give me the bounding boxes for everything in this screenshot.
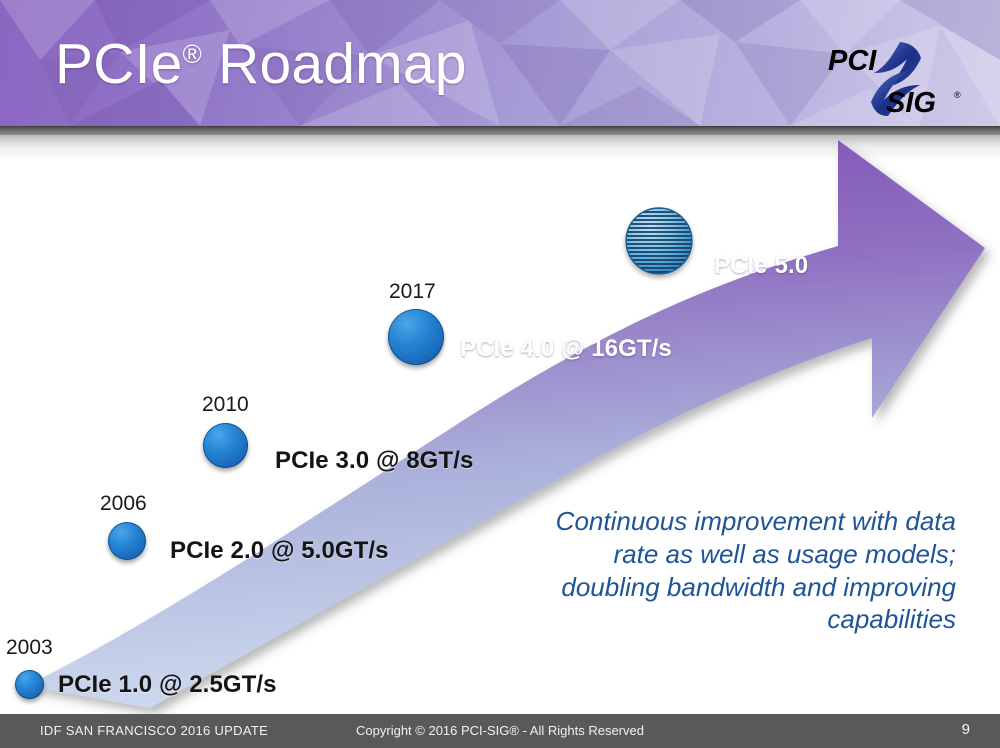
milestone-year-2017: 2017 <box>389 280 436 304</box>
milestone-node-2017[interactable] <box>388 309 444 365</box>
milestone-node-2003[interactable] <box>15 670 44 699</box>
milestone-year-2010: 2010 <box>202 393 249 417</box>
slide-header: PCIe® Roadmap PCI SIG ® <box>0 0 1000 126</box>
milestone-label-pcie-2-0: PCIe 2.0 @ 5.0GT/s <box>170 537 389 565</box>
logo-pci-text: PCI <box>828 45 877 77</box>
slide: PCIe® Roadmap PCI SIG ® <box>0 0 1000 748</box>
milestone-year-2003: 2003 <box>6 636 53 660</box>
footer-page-number: 9 <box>962 721 970 738</box>
page-title-main: PCIe <box>55 32 183 96</box>
logo-sig-text: SIG <box>886 87 936 118</box>
milestone-label-pcie-3-0: PCIe 3.0 @ 8GT/s <box>275 447 473 475</box>
roadmap-annotation: Continuous improvement with data rate as… <box>536 505 956 636</box>
page-title-rest: Roadmap <box>202 32 467 96</box>
milestone-node-2010[interactable] <box>203 423 248 468</box>
milestone-label-pcie-4-0: PCIe 4.0 @ 16GT/s <box>460 335 672 363</box>
milestone-year-2006: 2006 <box>100 492 147 516</box>
logo-registered-icon: ® <box>954 90 961 100</box>
milestone-node-2006[interactable] <box>108 522 146 560</box>
page-title: PCIe® Roadmap <box>55 36 467 93</box>
milestone-label-pcie-5-0: PCIe 5.0 <box>714 252 808 280</box>
slide-footer: Copyright © 2016 PCI-SIG® - All Rights R… <box>0 714 1000 748</box>
pci-sig-logo: PCI SIG ® <box>822 40 972 118</box>
registered-mark-icon: ® <box>183 39 203 69</box>
swoosh-upper-icon <box>874 42 921 87</box>
footer-event: IDF SAN FRANCISCO 2016 UPDATE <box>40 723 268 738</box>
milestone-node-pcie-5-0[interactable] <box>625 207 693 275</box>
milestone-label-pcie-1-0: PCIe 1.0 @ 2.5GT/s <box>58 671 277 699</box>
hatched-sphere-icon <box>625 207 693 275</box>
